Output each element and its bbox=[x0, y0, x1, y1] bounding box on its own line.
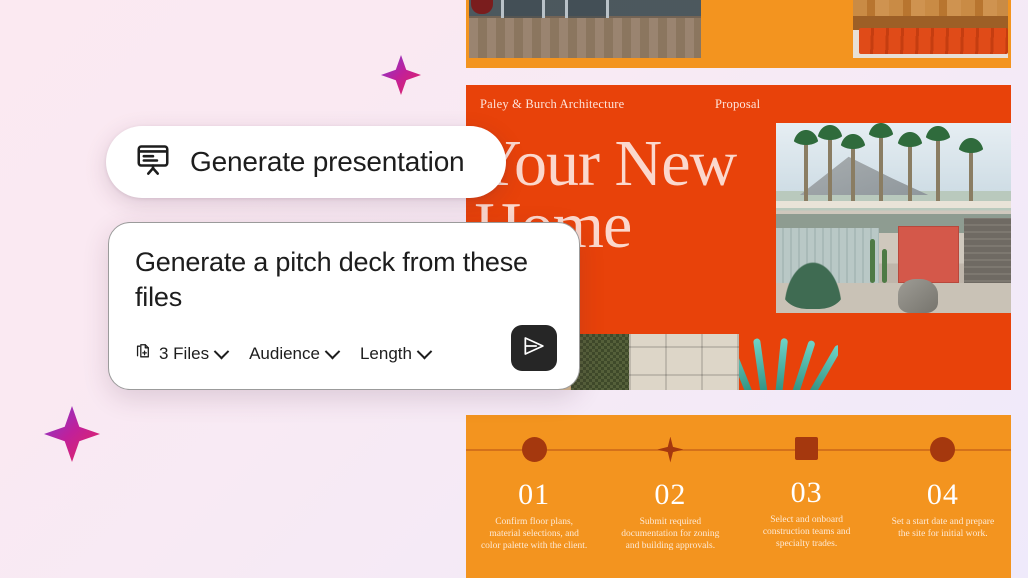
desert-modern-house-photo bbox=[776, 123, 1011, 313]
timeline-steps: 01 Confirm floor plans, material selecti… bbox=[466, 415, 1011, 553]
step-number: 02 bbox=[602, 478, 738, 512]
interior-chairs-photo bbox=[469, 0, 701, 58]
audience-dropdown-label: Audience bbox=[249, 344, 320, 364]
step-description: Confirm floor plans, material selections… bbox=[466, 517, 602, 553]
files-dropdown[interactable]: 3 Files bbox=[135, 343, 227, 365]
timeline-step: 04 Set a start date and prepare the site… bbox=[875, 415, 1011, 553]
length-dropdown-label: Length bbox=[360, 344, 412, 364]
chevron-down-icon bbox=[214, 343, 230, 359]
send-button[interactable] bbox=[511, 325, 557, 371]
palm-tree-shape bbox=[969, 146, 973, 204]
red-gate-shape bbox=[898, 226, 959, 283]
slide-kind: Proposal bbox=[715, 97, 760, 112]
chevron-down-icon bbox=[417, 343, 433, 359]
circle-marker-icon bbox=[930, 437, 955, 462]
sparkle-small-icon bbox=[381, 55, 421, 95]
generate-presentation-button[interactable]: Generate presentation bbox=[106, 126, 506, 198]
palm-tree-shape bbox=[828, 133, 832, 205]
presentation-board-icon bbox=[134, 141, 172, 184]
palm-tree-shape bbox=[936, 134, 940, 204]
slide-timeline[interactable]: 01 Confirm floor plans, material selecti… bbox=[466, 415, 1011, 578]
step-number: 03 bbox=[739, 476, 875, 510]
rock-shape bbox=[898, 279, 938, 313]
send-arrow-icon bbox=[521, 333, 547, 364]
circle-marker-icon bbox=[522, 437, 547, 462]
slide-header: Paley & Burch Architecture Proposal bbox=[480, 97, 997, 117]
wood-floor-shape bbox=[469, 18, 701, 58]
slide-top-cropped[interactable] bbox=[466, 0, 1011, 68]
prompt-card[interactable]: Generate a pitch deck from these files 3… bbox=[108, 222, 580, 390]
length-dropdown[interactable]: Length bbox=[360, 344, 430, 364]
step-description: Select and onboard construction teams an… bbox=[739, 515, 875, 551]
cactus-shape bbox=[870, 239, 875, 283]
generate-presentation-label: Generate presentation bbox=[190, 146, 464, 178]
tile-swatch bbox=[629, 334, 739, 390]
agave-plant-swatch bbox=[739, 334, 838, 390]
palm-tree-shape bbox=[908, 140, 912, 204]
timeline-step: 03 Select and onboard construction teams… bbox=[739, 415, 875, 553]
step-description: Submit required documentation for zoning… bbox=[602, 517, 738, 553]
step-number: 01 bbox=[466, 478, 602, 512]
files-dropdown-label: 3 Files bbox=[159, 344, 209, 364]
slide-brand: Paley & Burch Architecture bbox=[480, 97, 624, 112]
wood-brick-wall-photo bbox=[853, 0, 1008, 58]
palm-tree-shape bbox=[851, 142, 855, 204]
star-marker-icon bbox=[658, 437, 683, 462]
timeline-step: 01 Confirm floor plans, material selecti… bbox=[466, 415, 602, 553]
palm-tree-shape bbox=[879, 131, 883, 207]
wood-panel-shape bbox=[853, 0, 1008, 16]
brick-row-shape bbox=[859, 28, 1008, 54]
prompt-controls: 3 Files Audience Length bbox=[135, 343, 430, 365]
cactus-shape bbox=[882, 249, 887, 283]
audience-dropdown[interactable]: Audience bbox=[249, 344, 338, 364]
sparkle-large-icon bbox=[44, 406, 100, 462]
step-number: 04 bbox=[875, 478, 1011, 512]
timeline-step: 02 Submit required documentation for zon… bbox=[602, 415, 738, 553]
square-marker-icon bbox=[795, 437, 818, 460]
chevron-down-icon bbox=[325, 343, 341, 359]
prompt-input[interactable]: Generate a pitch deck from these files bbox=[135, 245, 553, 315]
agave-shape bbox=[781, 257, 845, 309]
pot-shape bbox=[471, 0, 493, 14]
palm-tree-shape bbox=[804, 138, 808, 204]
add-file-icon bbox=[135, 343, 152, 365]
step-description: Set a start date and prepare the site fo… bbox=[875, 517, 1011, 541]
roofline-shape bbox=[776, 201, 1011, 208]
